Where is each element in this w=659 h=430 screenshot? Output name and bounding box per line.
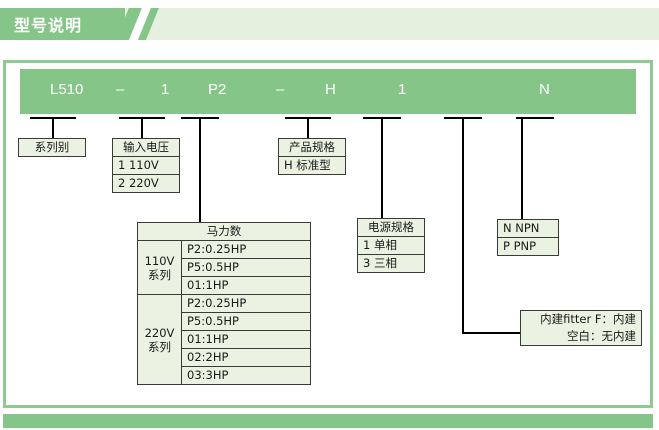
- box-product-spec: 产品规格 H 标准型: [278, 138, 346, 175]
- table-horsepower-group-110v-values: P2:0.25HP P5:0.5HP 01:1HP: [182, 241, 310, 294]
- box-series-title: 系列别: [19, 139, 85, 156]
- model-code-token-series: L510: [50, 81, 83, 98]
- model-code-token-power-spec: 1: [398, 81, 406, 98]
- page-header-banner: 型号说明: [0, 8, 659, 40]
- model-code-bar: L510 – 1 P2 – H 1 N: [20, 69, 636, 114]
- table-horsepower-title: 马力数: [138, 223, 310, 241]
- box-npn-pnp-option-pnp: P PNP: [498, 238, 558, 255]
- table-row: P2:0.25HP: [182, 295, 310, 313]
- table-horsepower: 马力数 110V 系列 P2:0.25HP P5:0.5HP 01:1HP 22…: [137, 222, 311, 385]
- model-code-token-dash-2: –: [276, 81, 284, 98]
- box-series: 系列别: [18, 138, 86, 157]
- table-row: 03:3HP: [182, 367, 310, 384]
- box-input-voltage-title: 输入电压: [113, 139, 179, 157]
- table-row: P5:0.5HP: [182, 313, 310, 331]
- box-builtin-filter-option-blank: 空白：无内建: [521, 328, 641, 345]
- box-power-spec-title: 电源规格: [358, 219, 424, 237]
- model-code-token-dash-1: –: [116, 81, 124, 98]
- connector-vline-power-spec: [381, 117, 383, 218]
- table-horsepower-group-220v-values: P2:0.25HP P5:0.5HP 01:1HP 02:2HP 03:3HP: [182, 295, 310, 384]
- footer-bar: [3, 414, 653, 428]
- table-row: 01:1HP: [182, 277, 310, 294]
- connector-vline-horsepower: [199, 117, 201, 223]
- box-npn-pnp: N NPN P PNP: [497, 219, 559, 256]
- box-builtin-filter: 内建fitter F：内建 空白：无内建: [520, 310, 642, 346]
- table-horsepower-group-220v-label: 220V 系列: [138, 295, 182, 384]
- table-row: P5:0.5HP: [182, 259, 310, 277]
- box-power-spec-option-three-phase: 3 三相: [358, 255, 424, 272]
- box-power-spec: 电源规格 1 单相 3 三相: [357, 218, 425, 273]
- table-row: P2:0.25HP: [182, 241, 310, 259]
- page-title: 型号说明: [14, 12, 82, 36]
- table-horsepower-group-220v-label-line1: 220V: [145, 326, 175, 340]
- box-input-voltage-option-110v: 1 110V: [113, 157, 179, 175]
- model-code-token-product-spec: H: [325, 81, 336, 98]
- box-input-voltage: 输入电压 1 110V 2 220V: [112, 138, 180, 193]
- connector-vline-product-spec: [307, 117, 309, 138]
- table-horsepower-group-110v-label-line2: 系列: [148, 268, 171, 282]
- model-code-token-voltage: 1: [161, 81, 169, 98]
- table-horsepower-group-220v: 220V 系列 P2:0.25HP P5:0.5HP 01:1HP 02:2HP…: [138, 295, 310, 384]
- connector-vline-builtin-filter: [462, 117, 464, 334]
- connector-vline-input-voltage: [141, 117, 143, 138]
- connector-vline-series: [52, 117, 54, 138]
- box-power-spec-option-single-phase: 1 单相: [358, 237, 424, 255]
- box-product-spec-option-h: H 标准型: [279, 157, 345, 174]
- box-input-voltage-option-220v: 2 220V: [113, 175, 179, 192]
- box-npn-pnp-option-npn: N NPN: [498, 220, 558, 238]
- table-horsepower-group-110v: 110V 系列 P2:0.25HP P5:0.5HP 01:1HP: [138, 241, 310, 295]
- table-horsepower-group-110v-label-line1: 110V: [145, 254, 175, 268]
- table-row: 01:1HP: [182, 331, 310, 349]
- table-row: 02:2HP: [182, 349, 310, 367]
- connector-hbar-builtin-filter-elbow: [462, 332, 522, 334]
- page-title-block: 型号说明: [0, 8, 125, 40]
- model-code-token-npn-pnp: N: [539, 81, 550, 98]
- table-horsepower-group-110v-label: 110V 系列: [138, 241, 182, 294]
- model-code-token-horsepower: P2: [208, 81, 226, 98]
- box-product-spec-title: 产品规格: [279, 139, 345, 157]
- connector-vline-npn-pnp: [521, 117, 523, 219]
- box-builtin-filter-option-f: 内建fitter F：内建: [521, 311, 641, 328]
- table-horsepower-group-220v-label-line2: 系列: [148, 340, 171, 354]
